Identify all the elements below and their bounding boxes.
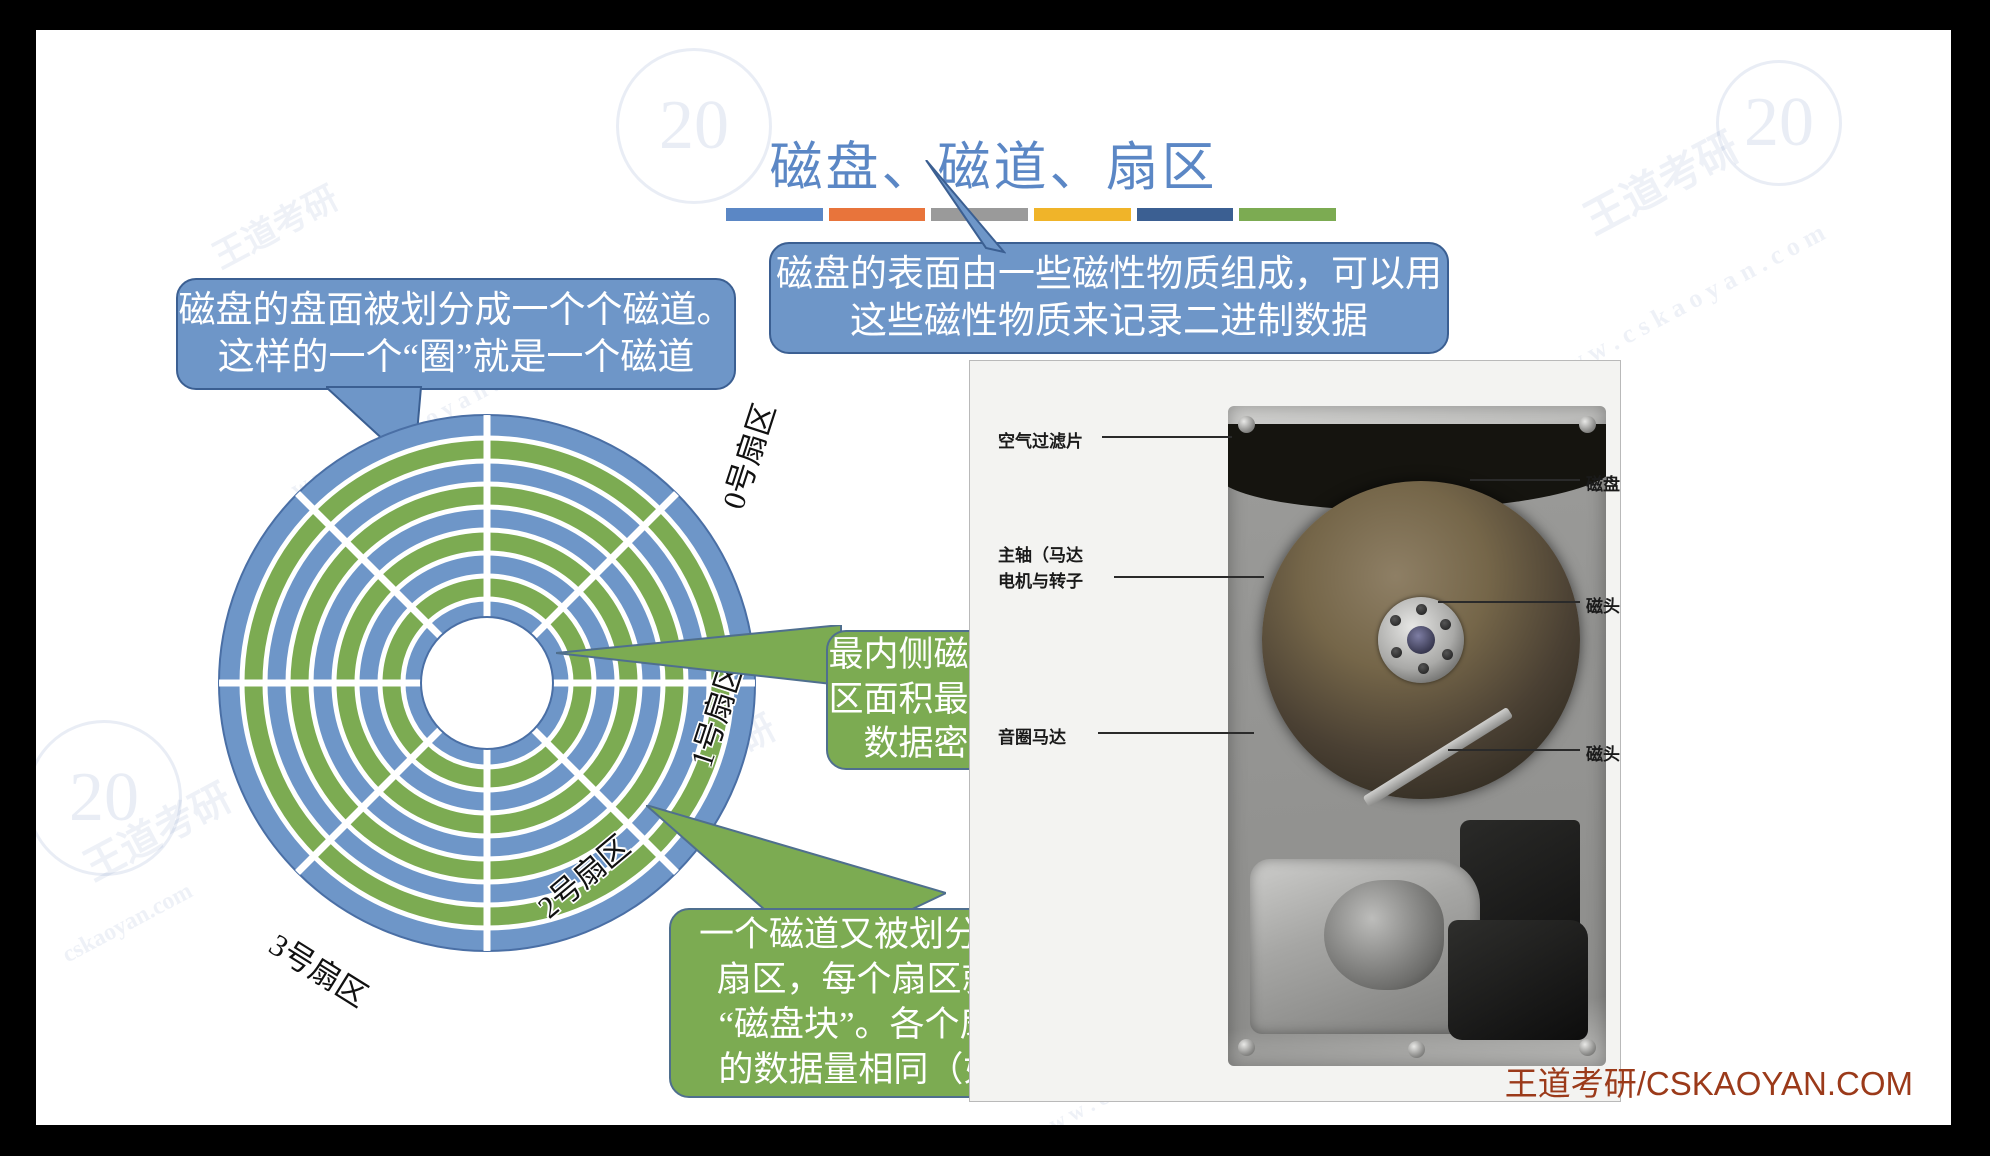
watermark-text: cskaoyan.com bbox=[58, 878, 197, 969]
label-spindle: 主轴（马达 bbox=[998, 541, 1083, 566]
label-disk: 磁盘 bbox=[1586, 470, 1620, 495]
platter bbox=[1262, 481, 1580, 799]
leader-line bbox=[1098, 732, 1254, 734]
watermark-seal bbox=[36, 720, 182, 876]
slide-canvas: 王道考研 王道考研 w w w . c s k a o y a n . c o … bbox=[36, 30, 1951, 1125]
screw-icon bbox=[1238, 1039, 1255, 1056]
hdd-photo: 空气过滤片 主轴（马达 电机与转子 音圈马达 磁盘 磁头 磁头臂 bbox=[969, 360, 1621, 1102]
screw-icon bbox=[1408, 1041, 1425, 1058]
title-bar-segment bbox=[1239, 208, 1336, 221]
hub-hole bbox=[1391, 647, 1402, 658]
label-spindle-2: 电机与转子 bbox=[998, 567, 1083, 592]
callout-line: 磁盘的表面由一些磁性物质组成，可以用 bbox=[776, 251, 1442, 298]
track-callout: 磁盘的盘面被划分成一个个磁道。 这样的一个“圈”就是一个磁道 bbox=[176, 278, 736, 390]
callout-line: 磁盘的盘面被划分成一个个磁道。 bbox=[179, 287, 734, 334]
leader-line bbox=[1470, 479, 1580, 481]
footer-watermark: 王道考研/CSKAOYAN.COM bbox=[1505, 1057, 1913, 1105]
label-vcm: 音圈马达 bbox=[998, 723, 1066, 748]
hub-hole bbox=[1416, 604, 1427, 615]
callout-line: 这样的一个“圈”就是一个磁道 bbox=[179, 334, 734, 381]
screw-icon bbox=[1579, 416, 1596, 433]
screw-icon bbox=[1238, 416, 1255, 433]
leader-line bbox=[1114, 576, 1264, 578]
density-callout-tail bbox=[556, 625, 846, 695]
title-bar-segment bbox=[1137, 208, 1234, 221]
title-bar-segment bbox=[726, 208, 823, 221]
leader-line bbox=[1438, 601, 1580, 603]
hub-hole bbox=[1418, 663, 1429, 674]
hub-hole bbox=[1390, 615, 1401, 626]
leader-line bbox=[1102, 436, 1232, 438]
callout-line: 这些磁性物质来记录二进制数据 bbox=[776, 298, 1442, 345]
label-head-arm: 磁头臂 bbox=[1586, 740, 1621, 765]
screw-icon bbox=[1579, 1039, 1596, 1056]
title-bar-segment bbox=[1034, 208, 1131, 221]
hdd-body bbox=[1228, 406, 1606, 1066]
label-head: 磁头 bbox=[1586, 592, 1620, 617]
title-accent-bar bbox=[726, 208, 1336, 221]
leader-line bbox=[1448, 749, 1580, 751]
spindle-hub bbox=[1378, 597, 1464, 683]
surface-callout: 磁盘的表面由一些磁性物质组成，可以用 这些磁性物质来记录二进制数据 bbox=[769, 242, 1449, 354]
surface-callout-tail bbox=[836, 160, 1006, 255]
disk-center-hole bbox=[421, 617, 553, 749]
label-air-filter: 空气过滤片 bbox=[998, 427, 1083, 452]
actuator-magnet bbox=[1324, 880, 1444, 990]
hub-hole bbox=[1442, 649, 1453, 660]
hub-hole bbox=[1440, 619, 1451, 630]
voice-coil-motor bbox=[1448, 920, 1588, 1040]
